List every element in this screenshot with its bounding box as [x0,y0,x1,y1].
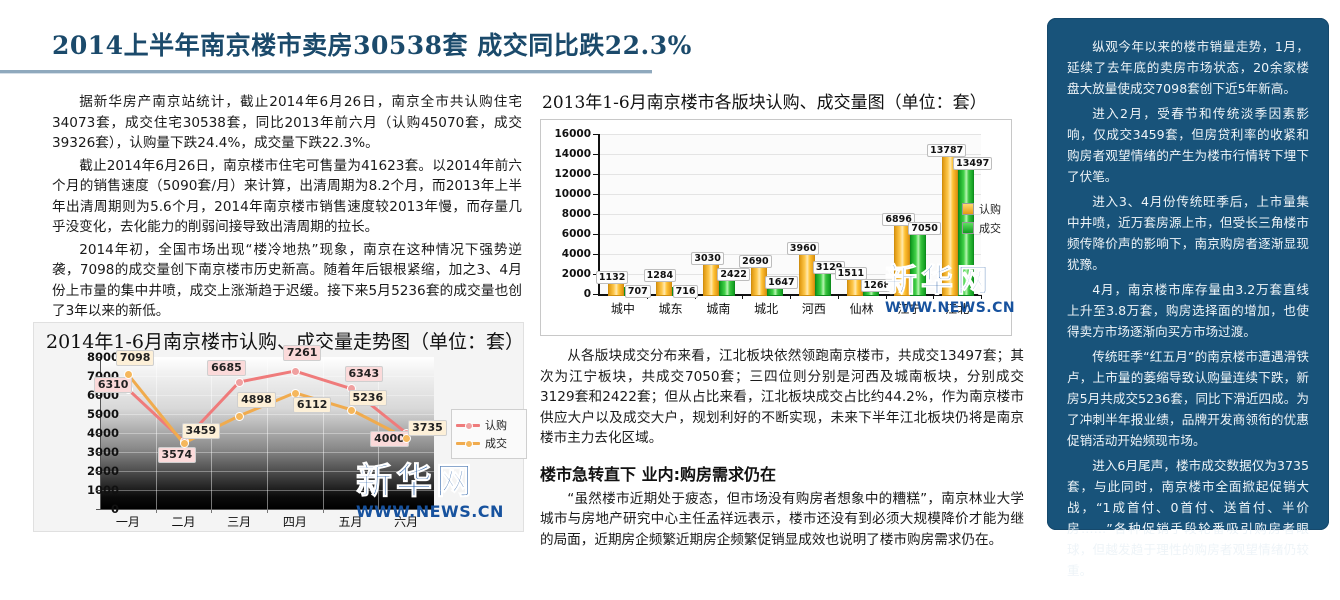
y-tick [593,174,598,175]
x-tick [886,294,887,299]
legend-label: 认购 [485,417,507,433]
data-label: 6685 [207,360,246,376]
sidebar-paragraph: 进入6月尾声，楼市成交数据仅为3735套，与此同时，南京楼市全面掀起促销大战，“… [1067,455,1309,581]
paragraph: 从各版块成交分布来看，江北板块依然领跑南京楼市，共成交13497套；其次为江宁板… [540,346,1024,449]
sidebar-paragraph: 4月，南京楼市库存量由3.2万套直线上升至3.8万套，购房选择面的增加，也使得卖… [1067,279,1309,342]
y-tick [593,154,598,155]
gridline [599,134,981,135]
y-tick [593,134,598,135]
data-label: 1284 [644,269,676,282]
paragraph: 截止2014年6月26日，南京楼市住宅可售量为41623套。以2014年前六个月… [52,156,522,238]
data-label: 716 [673,285,699,298]
sidebar-paragraph: 纵观今年以来的楼市销量走势，1月，延续了去年底的卖房市场状态，20余家楼盘大放量… [1067,36,1309,99]
data-label: 13497 [953,157,992,170]
district-bar-chart: 0200040006000800010000120001400016000 城中… [540,119,1012,336]
x-tick-label: 城南 [694,300,742,317]
line-series-svg [34,323,523,531]
sidebar-paragraph: 传统旺季“红五月”的南京楼市遭遇滑铁卢，上市量的萎缩导致认购量连续下跌，新房5月… [1067,346,1309,451]
y-tick-label: 14000 [541,148,591,160]
page-root: 2014上半年南京楼市卖房30538套 成交同比跌22.3% 据新华房产南京站统… [0,0,1340,600]
legend-swatch-icon [962,222,974,234]
data-point [180,439,189,448]
data-label: 3459 [182,423,221,439]
data-label: 3030 [691,252,723,265]
data-label: 3574 [158,447,197,463]
gridline [599,174,981,175]
x-tick [933,294,934,299]
y-tick-label: 6000 [541,228,591,240]
x-tick-label: 仙林 [838,300,886,317]
sidebar-content: 纵观今年以来的楼市销量走势，1月，延续了去年底的卖房市场状态，20余家楼盘大放量… [1047,18,1329,597]
paragraph: “虽然楼市近期处于疲态，但市场没有购房者想象中的糟糕”，南京林业大学城市与房地产… [540,489,1024,551]
y-tick-label: 16000 [541,128,591,140]
data-point [347,406,356,415]
data-label: 7050 [908,222,940,235]
x-tick-label: 河西 [790,300,838,317]
bar [894,225,910,296]
data-label: 6343 [345,366,384,382]
data-label: 3960 [787,242,819,255]
data-label: 5236 [349,390,388,406]
y-tick-label: 8000 [541,208,591,220]
chart-legend: 认购 成交 [451,409,527,459]
data-point [124,370,133,379]
legend-swatch-line-icon [456,421,480,429]
data-label: 707 [625,285,651,298]
data-label: 4898 [237,392,276,408]
data-label: 1511 [835,267,867,280]
legend-item-renggou: 认购 [962,201,1001,217]
gridline [599,154,981,155]
x-tick-label: 江宁 [885,300,933,317]
x-tick [838,294,839,299]
data-point [291,367,300,376]
bar [799,254,815,296]
legend-item-chengjiao: 成交 [456,435,522,451]
legend-label: 成交 [979,220,1001,236]
y-tick [593,234,598,235]
x-tick-label: 城中 [599,300,647,317]
sidebar-panel: 纵观今年以来的楼市销量走势，1月，延续了去年底的卖房市场状态，20余家楼盘大放量… [1047,18,1329,530]
data-label: 3735 [408,420,447,436]
y-tick-label: 10000 [541,188,591,200]
legend-label: 成交 [485,435,507,451]
y-tick-label: 12000 [541,168,591,180]
y-tick-label: 4000 [541,248,591,260]
x-tick [742,294,743,299]
chart-title: 2013年1-6月南京楼市各版块认购、成交量图（单位：套） [542,88,1024,113]
paragraph: 2014年初，全国市场出现“楼冷地热”现象，南京在这种情况下强势逆袭，7098的… [52,240,522,322]
data-label: 1132 [596,271,628,284]
x-tick [981,294,982,299]
data-label: 2690 [739,255,771,268]
y-tick [593,194,598,195]
page-title: 2014上半年南京楼市卖房30538套 成交同比跌22.3% [52,26,692,62]
x-tick [790,294,791,299]
bar [942,156,958,296]
gridline [599,194,981,195]
x-tick-label: 城北 [742,300,790,317]
x-tick-label: 江北 [933,300,981,317]
data-label: 6310 [94,377,133,393]
paragraph: 据新华房产南京站统计，截止2014年6月26日，南京全市共认购住宅34073套，… [52,92,522,154]
legend-swatch-line-icon [456,439,480,447]
x-tick-label: 城东 [647,300,695,317]
middle-column: 2013年1-6月南京楼市各版块认购、成交量图（单位：套） 0200040006… [540,88,1024,552]
data-label: 2422 [717,268,749,281]
section-subheading: 楼市急转直下 业内:购房需求仍在 [540,461,1024,485]
legend-label: 认购 [979,201,1001,217]
left-article-column: 据新华房产南京站统计，截止2014年6月26日，南京全市共认购住宅34073套，… [52,92,522,324]
legend-swatch-icon [962,203,974,215]
data-label: 7261 [283,345,322,361]
y-tick-label: 2000 [541,268,591,280]
gridline [599,214,981,215]
y-tick [593,294,598,295]
trend-line-chart: 2014年1-6月南京楼市认购、成交量走势图（单位：套） 01000200030… [33,322,524,532]
legend-item-chengjiao: 成交 [962,220,1001,236]
y-tick-label: 0 [541,288,591,300]
bar [656,281,672,296]
data-label: 1647 [765,276,797,289]
header-divider-light [0,73,652,74]
chart-legend: 认购 成交 [962,198,1001,239]
sidebar-paragraph: 进入2月，受春节和传统淡季因素影响，仅成交3459套，但房贷利率的收紧和购房者观… [1067,103,1309,187]
data-label: 13787 [927,144,966,157]
bar [608,283,624,296]
legend-item-renggou: 认购 [456,417,522,433]
data-label: 1268 [861,279,893,292]
y-tick [593,214,598,215]
sidebar-paragraph: 进入3、4月份传统旺季后，上市量集中井喷，近万套房源上市，但受长三角楼市频传降价… [1067,191,1309,275]
data-label: 6112 [293,397,332,413]
data-label: 7098 [116,350,155,366]
y-tick [593,254,598,255]
